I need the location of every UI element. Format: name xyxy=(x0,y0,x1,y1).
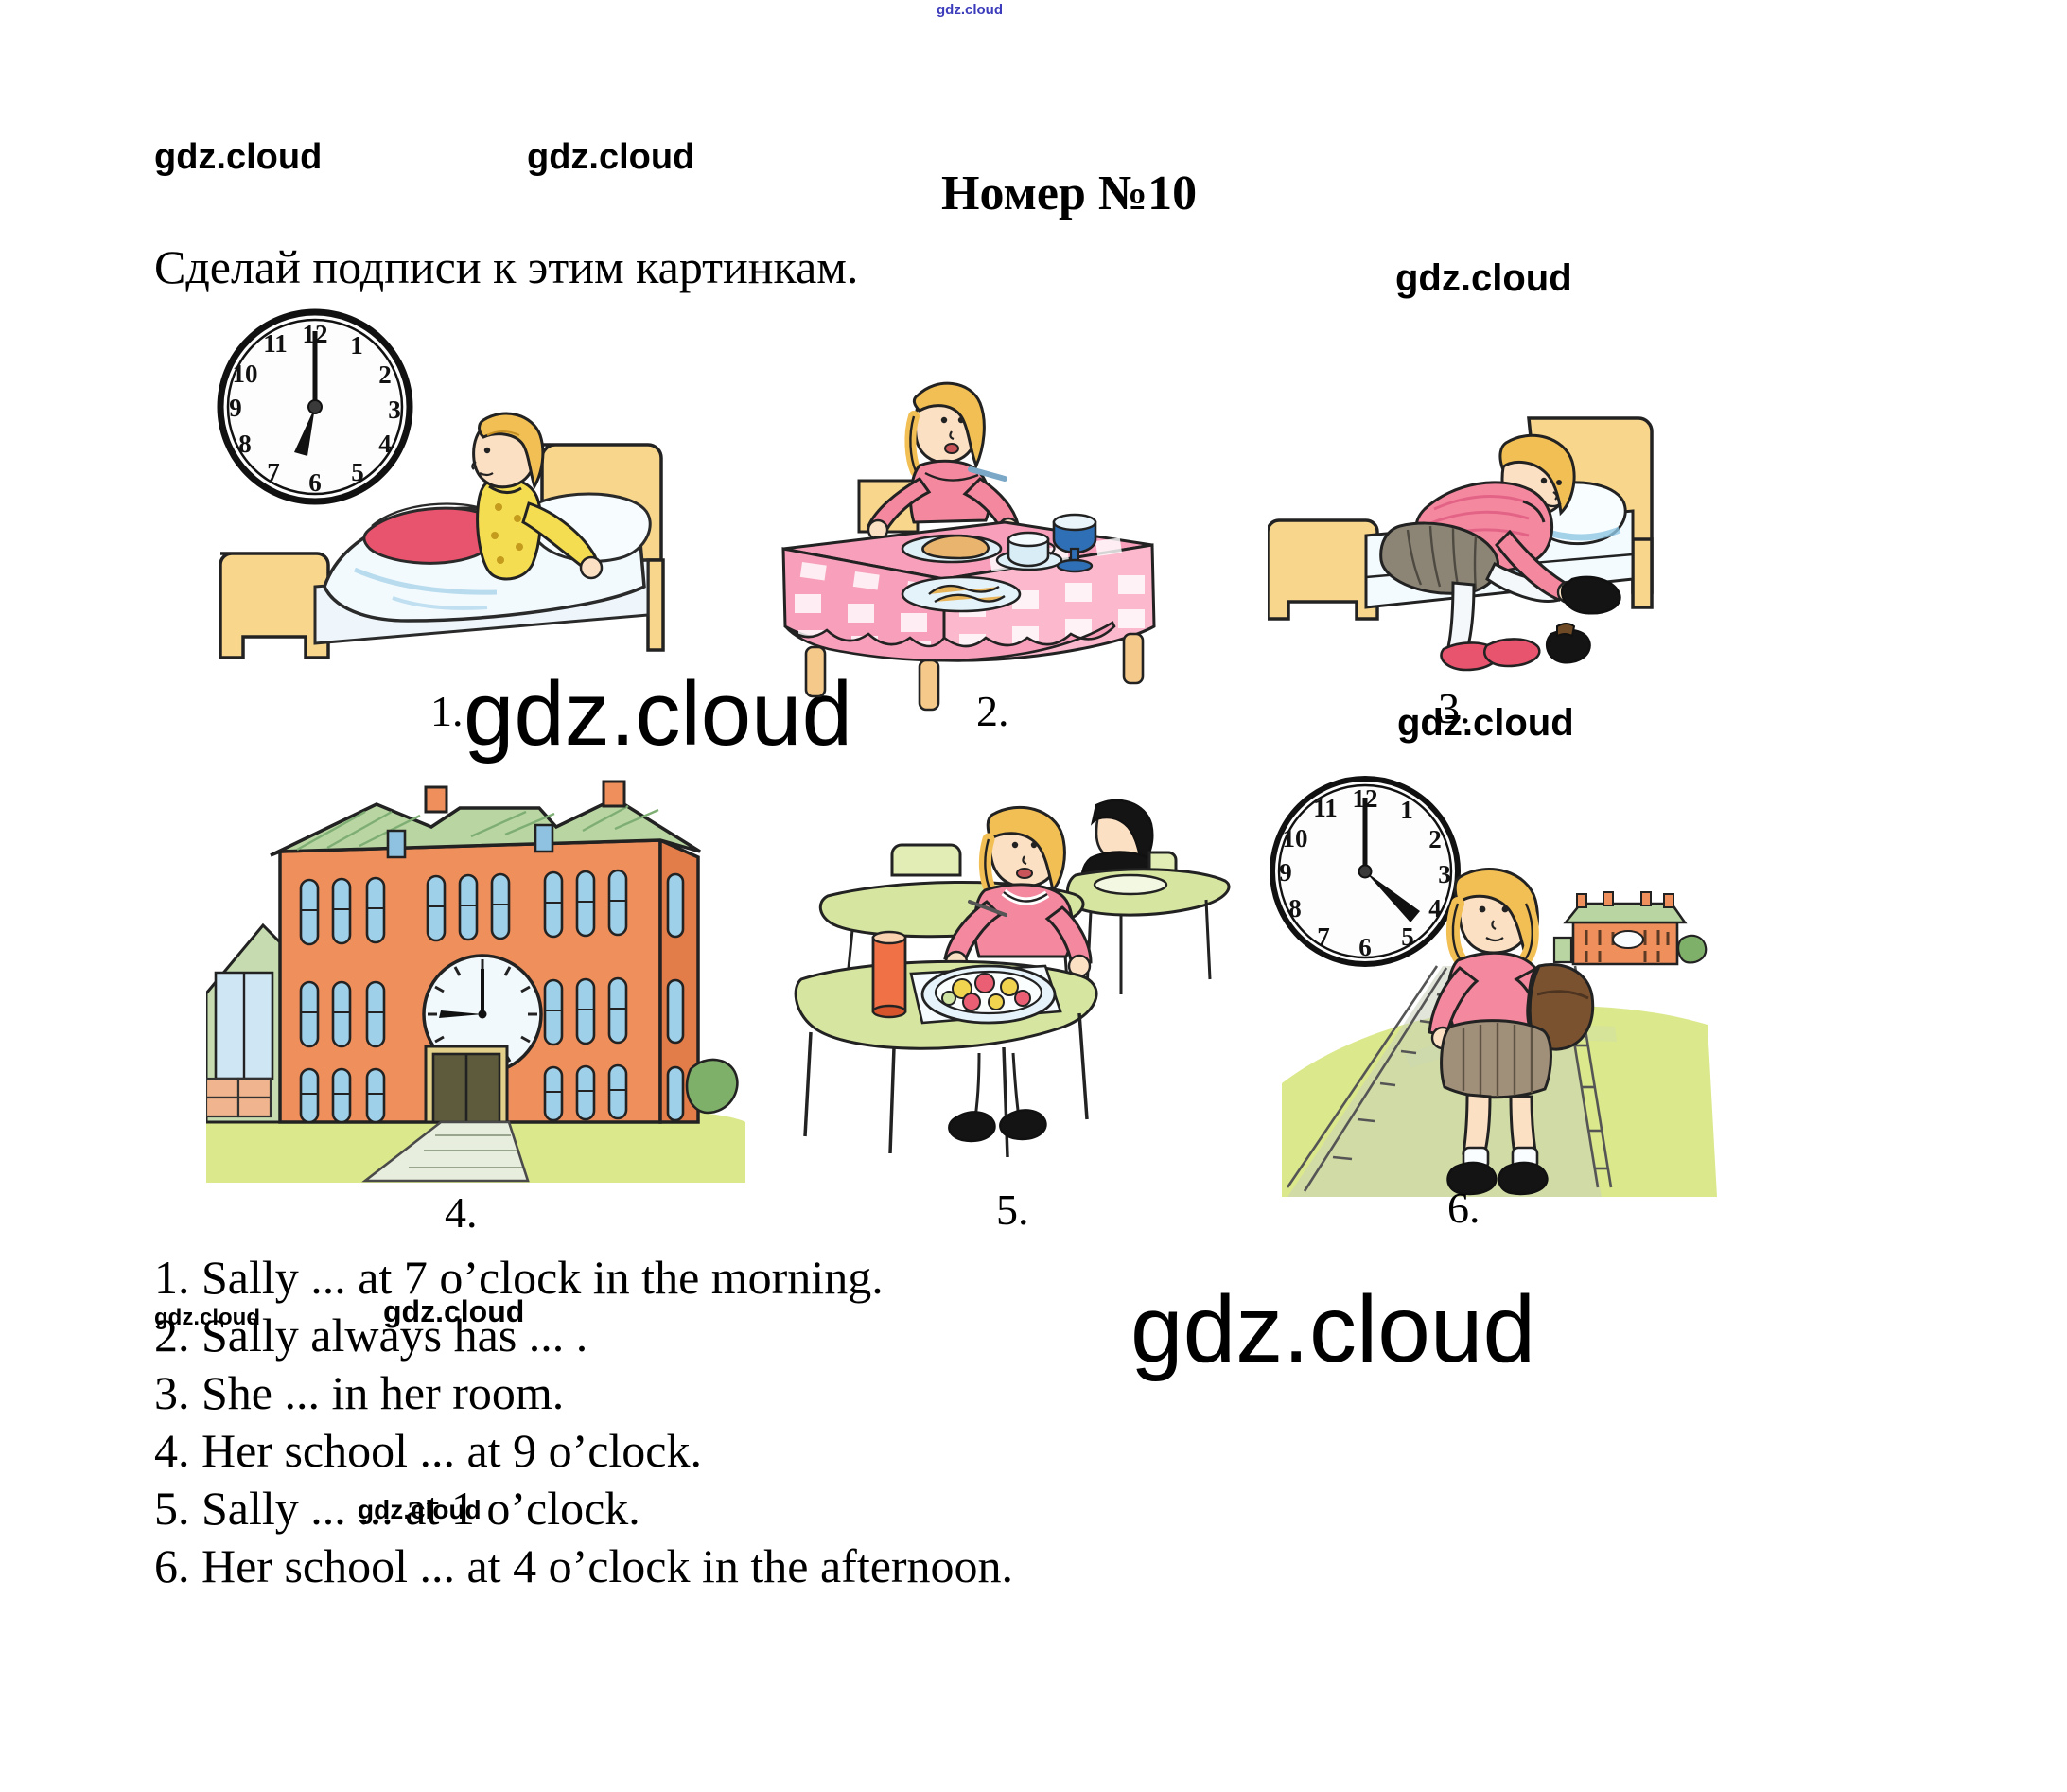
watermark-header-left: gdz.cloud xyxy=(154,137,322,178)
svg-text:2: 2 xyxy=(1428,825,1442,853)
svg-text:7: 7 xyxy=(267,458,280,486)
sentence-4: 4. Her school ... at 9 o’clock. xyxy=(154,1422,1573,1480)
svg-text:3: 3 xyxy=(388,395,401,424)
watermark-top-tiny: gdz.cloud xyxy=(937,2,1003,18)
svg-text:1: 1 xyxy=(1400,796,1413,824)
svg-text:1: 1 xyxy=(350,331,363,360)
instruction-text: Сделай подписи к этим картинкам. xyxy=(154,239,858,294)
svg-text:6: 6 xyxy=(1358,933,1372,961)
svg-text:9: 9 xyxy=(229,394,242,422)
svg-text:4: 4 xyxy=(1428,894,1442,922)
svg-text:10: 10 xyxy=(233,360,258,388)
watermark-sentence1-small: gdz.cloud xyxy=(154,1305,260,1331)
sentence-6: 6. Her school ... at 4 o’clock in the af… xyxy=(154,1537,1573,1595)
svg-text:7: 7 xyxy=(1317,922,1330,951)
figure-2-girl-breakfast xyxy=(757,360,1220,729)
figure-5-label: 5. xyxy=(996,1185,1029,1235)
svg-text:10: 10 xyxy=(1283,824,1308,852)
svg-text:8: 8 xyxy=(238,430,252,458)
svg-text:3: 3 xyxy=(1438,860,1451,888)
svg-text:6: 6 xyxy=(308,468,322,497)
figure-3-girl-getting-dressed xyxy=(1268,397,1712,710)
svg-text:9: 9 xyxy=(1279,858,1292,887)
figure-2-label: 2. xyxy=(976,686,1009,736)
watermark-sentence2-small: gdz.cloud xyxy=(383,1294,524,1329)
svg-text:11: 11 xyxy=(1313,794,1338,822)
watermark-sentence5-small: gdz.cloud xyxy=(358,1495,482,1525)
svg-text:2: 2 xyxy=(378,360,392,389)
watermark-header-mid: gdz.cloud xyxy=(527,137,694,178)
svg-text:5: 5 xyxy=(1401,922,1414,951)
watermark-right-upper: gdz.cloud xyxy=(1395,257,1572,300)
page-title: Номер №10 xyxy=(941,166,1197,221)
svg-text:5: 5 xyxy=(351,458,364,486)
figure-1-girl-waking-up: 1212 345 678 91011 xyxy=(203,303,676,681)
watermark-right-row3: gdz.cloud xyxy=(1397,702,1574,745)
figure-4-label: 4. xyxy=(445,1187,478,1238)
figure-6-label: 6. xyxy=(1447,1183,1480,1233)
figure-4-school-building xyxy=(206,757,745,1183)
watermark-big-bottom-right: gdz.cloud xyxy=(1130,1275,1535,1384)
figure-5-girl-lunch xyxy=(790,799,1235,1187)
svg-text:11: 11 xyxy=(263,329,288,358)
svg-text:8: 8 xyxy=(1288,894,1302,922)
svg-text:4: 4 xyxy=(378,430,392,458)
figure-1-label: 1. xyxy=(430,686,464,736)
figure-6-girl-leaving-school: 1212 345 678 91011 xyxy=(1263,771,1736,1197)
